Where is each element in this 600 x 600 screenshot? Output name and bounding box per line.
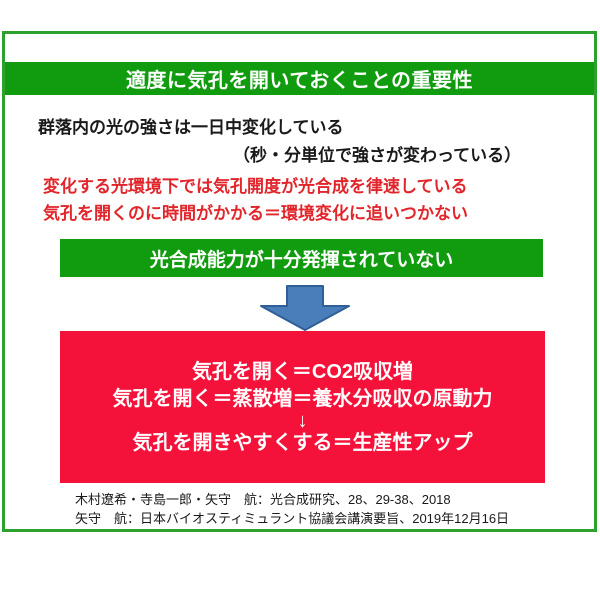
citation-yamori-biostimulant: 矢守 航：日本バイオスティミュラント協議会講演要旨、2019年12月16日: [75, 508, 509, 527]
red-box-line-productivity: 気孔を開きやすくする＝生産性アップ: [133, 433, 473, 453]
red-box-line-co2: 気孔を開く＝CO2吸収増: [192, 362, 413, 382]
arrow-down-icon: [257, 284, 353, 332]
citation-kimura-terashima-yamori: 木村遼希・寺島一郎・矢守 航：光合成研究、28、29-38、2018: [75, 489, 451, 508]
red-box-line-transpiration: 気孔を開く＝蒸散増＝養水分吸収の原動力: [113, 389, 493, 409]
statement-daylight-variation: 群落内の光の強さは一日中変化している: [38, 113, 344, 138]
statement-stomatal-rate-limiting: 変化する光環境下では気孔開度が光合成を律速している: [43, 172, 468, 197]
slide-title-bar: 適度に気孔を開いておくことの重要性: [5, 62, 594, 95]
red-conclusion-box: 気孔を開く＝CO2吸収増 気孔を開く＝蒸散増＝養水分吸収の原動力 ↓ 気孔を開き…: [60, 331, 545, 483]
slide-frame: 適度に気孔を開いておくことの重要性 群落内の光の強さは一日中変化している （秒・…: [2, 31, 597, 532]
statement-opening-lag: 気孔を開くのに時間がかかる＝環境変化に追いつかない: [43, 199, 468, 224]
green-conclusion-band: 光合成能力が十分発揮されていない: [60, 239, 543, 277]
red-box-down-arrow-glyph: ↓: [298, 411, 308, 431]
statement-second-minute-scale: （秒・分単位で強さが変わっている）: [233, 141, 521, 166]
slide-title: 適度に気孔を開いておくことの重要性: [126, 64, 473, 93]
green-band-label: 光合成能力が十分発揮されていない: [150, 245, 453, 272]
